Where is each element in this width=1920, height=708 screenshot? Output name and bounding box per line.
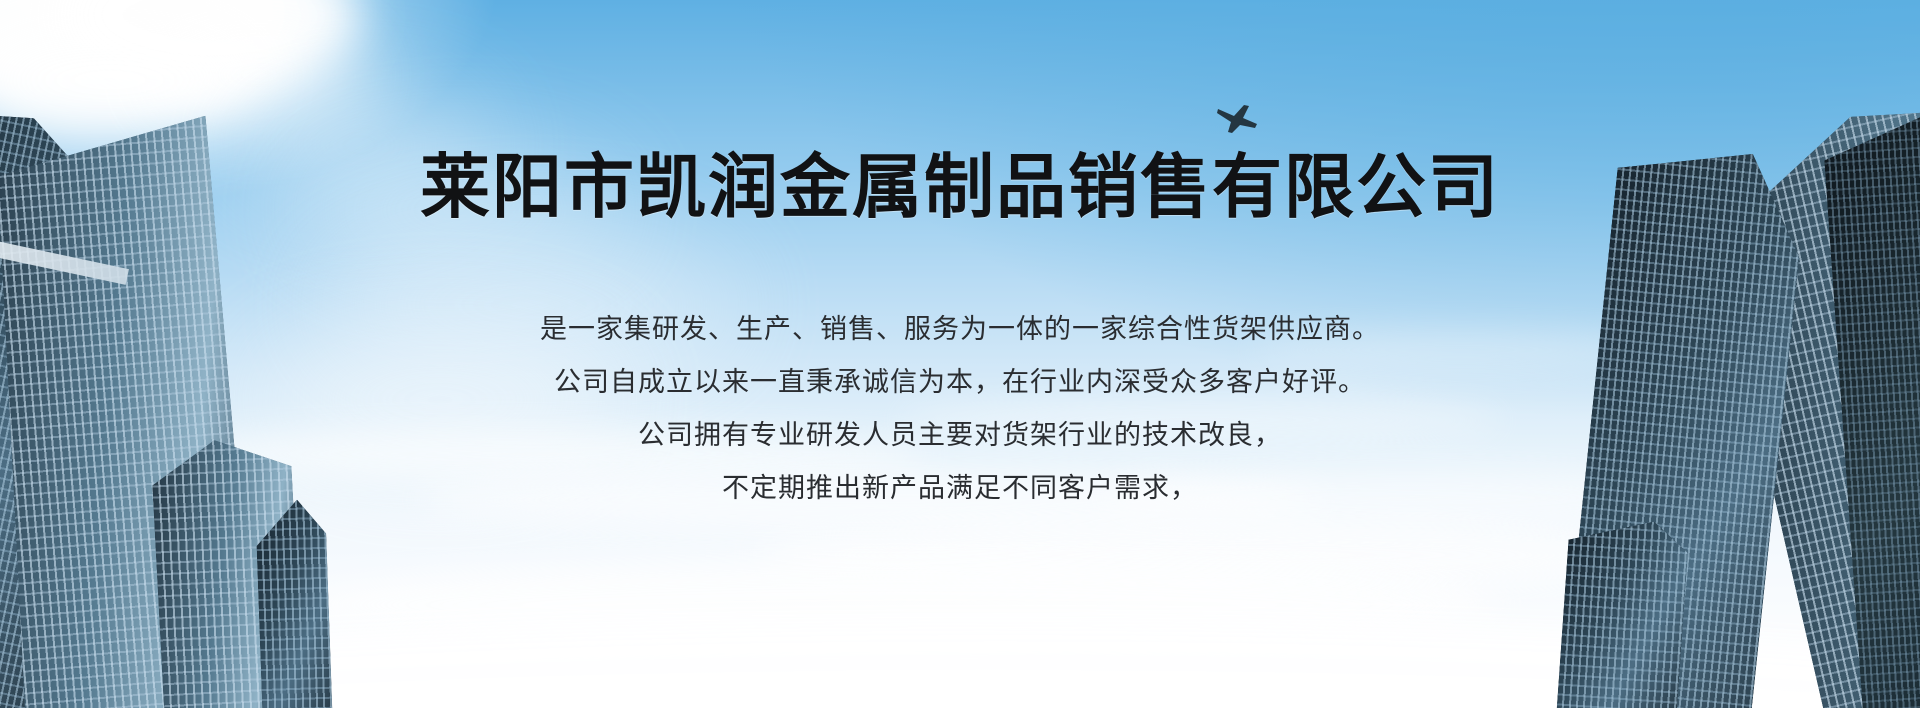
right-skyscrapers — [1500, 0, 1920, 708]
company-hero-banner: 莱阳市凯润金属制品销售有限公司 是一家集研发、生产、销售、服务为一体的一家综合性… — [0, 0, 1920, 708]
airplane-icon — [1216, 100, 1260, 134]
left-skyscrapers — [0, 0, 400, 708]
